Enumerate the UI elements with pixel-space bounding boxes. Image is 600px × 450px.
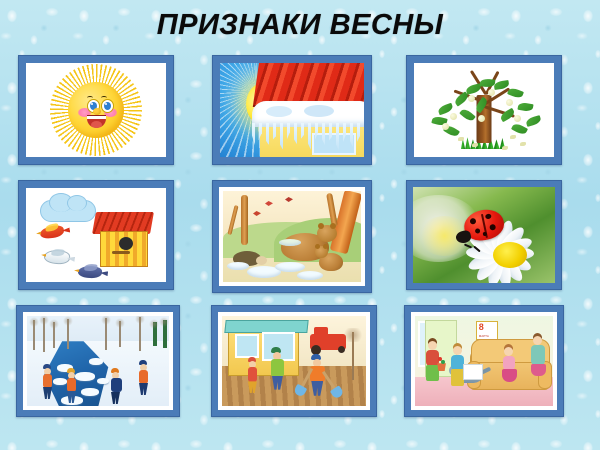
card-8-image	[222, 316, 366, 406]
card-melting-icicles[interactable]	[212, 55, 372, 165]
card-3-image	[414, 63, 554, 157]
cards-grid: 8 МАРТА	[0, 52, 600, 432]
sun-eye-right	[101, 99, 114, 113]
calendar-number: 8	[479, 322, 484, 333]
card-ladybug-daisy[interactable]	[406, 180, 562, 290]
card-blossoming-tree[interactable]	[406, 55, 562, 165]
card-9-image: 8 МАРТА	[415, 316, 553, 406]
calendar-8-march: 8 МАРТА	[476, 321, 498, 340]
card-ice-drift[interactable]	[16, 305, 180, 417]
tractor	[310, 334, 346, 350]
card-birdhouse[interactable]	[18, 180, 174, 290]
sapling	[352, 332, 354, 380]
sun-illustration	[50, 64, 142, 156]
card-8-mat	[218, 312, 370, 410]
card-smiling-sun[interactable]	[18, 55, 174, 165]
card-6-image	[413, 187, 555, 283]
card-march-eighth[interactable]: 8 МАРТА	[404, 305, 564, 417]
slide-background: ПРИЗНАКИ ВЕСНЫ	[0, 0, 600, 450]
card-7-image	[27, 316, 169, 406]
card-planting-trees[interactable]	[211, 305, 377, 417]
page-title: ПРИЗНАКИ ВЕСНЫ	[0, 8, 600, 42]
bird-white	[43, 249, 70, 266]
card-5-image	[223, 191, 361, 282]
card-1-image	[26, 63, 166, 157]
card-9-mat: 8 МАРТА	[411, 312, 557, 410]
card-4-image	[26, 188, 166, 282]
bird-red	[39, 224, 64, 239]
card-bears-waking[interactable]	[212, 180, 372, 293]
cloud-icon	[40, 200, 96, 222]
card-5-mat	[219, 187, 365, 286]
bear-cub	[319, 253, 343, 271]
card-2-image	[220, 63, 364, 157]
calendar-month: МАРТА	[479, 334, 489, 338]
bird-blue	[78, 265, 103, 279]
card-7-mat	[23, 312, 173, 410]
